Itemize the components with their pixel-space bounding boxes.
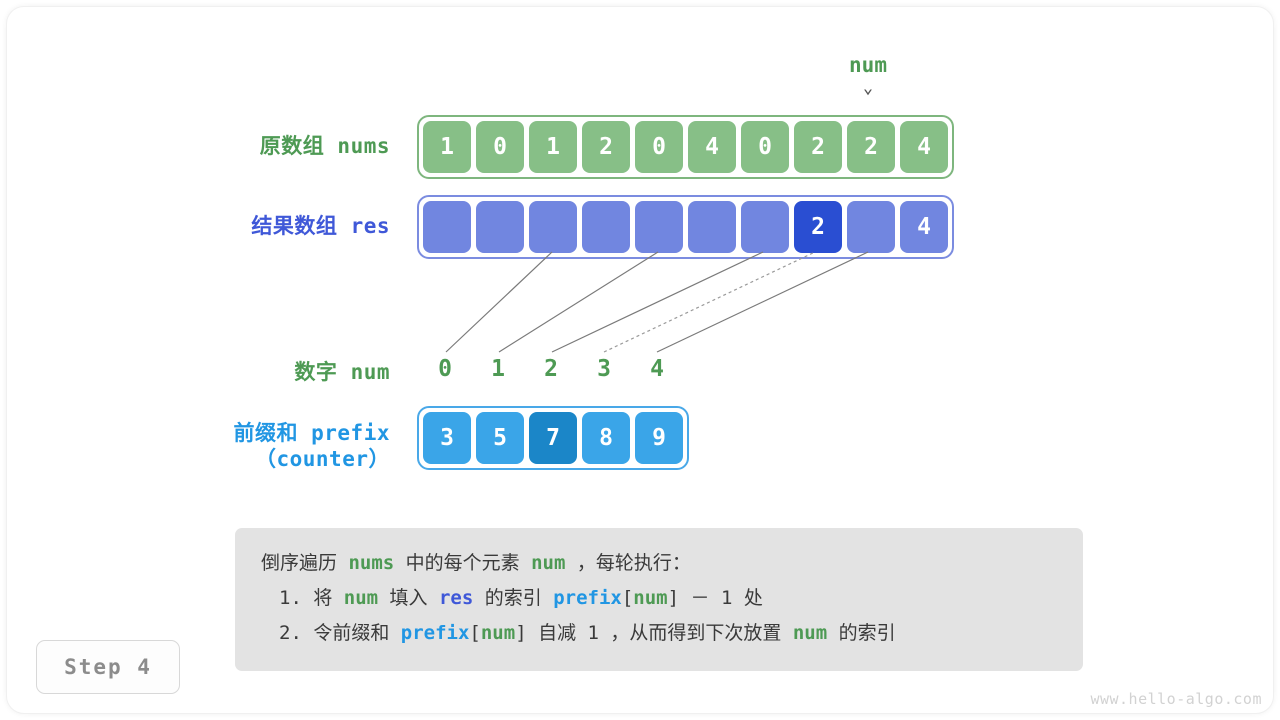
- digit-label: 2: [527, 356, 575, 382]
- caption-text: 倒序遍历: [261, 552, 348, 574]
- res-cell[interactable]: 4: [900, 201, 948, 253]
- digit-label: 1: [474, 356, 522, 382]
- caption-keyword-num: num: [793, 622, 827, 644]
- nums-cell[interactable]: 0: [476, 121, 524, 173]
- nums-cell[interactable]: 4: [688, 121, 736, 173]
- caption-text: ] 自减 1 ，从而得到下次放置: [515, 622, 793, 644]
- digit-labels: 0 1 2 3 4: [421, 356, 681, 382]
- caption-text: ，每轮执行：: [565, 552, 690, 574]
- caption-text: ] － 1 处: [668, 587, 763, 609]
- caption-box: 倒序遍历 nums 中的每个元素 num ，每轮执行： 1. 将 num 填入 …: [235, 528, 1083, 671]
- watermark: www.hello-algo.com: [1090, 690, 1262, 708]
- caption-line-1: 倒序遍历 nums 中的每个元素 num ，每轮执行：: [261, 546, 1059, 581]
- prefix-cell[interactable]: 8: [582, 412, 630, 464]
- caption-keyword-nums: nums: [348, 552, 394, 574]
- prefix-row-label-line1: 前缀和 prefix: [140, 420, 390, 446]
- caption-keyword-num: num: [344, 587, 378, 609]
- caption-text: 1. 将: [279, 587, 344, 609]
- chevron-down-icon: ⌄: [828, 79, 908, 98]
- caption-line-3: 2. 令前缀和 prefix[num] 自减 1 ，从而得到下次放置 num 的…: [261, 616, 1059, 651]
- caption-text: 填入: [378, 587, 439, 609]
- nums-cell[interactable]: 2: [794, 121, 842, 173]
- nums-cell[interactable]: 1: [423, 121, 471, 173]
- caption-keyword-prefix: prefix: [401, 622, 470, 644]
- nums-row-label: 原数组 nums: [150, 133, 390, 159]
- caption-line-2: 1. 将 num 填入 res 的索引 prefix[num] － 1 处: [261, 581, 1059, 616]
- caption-text: [: [622, 587, 633, 609]
- nums-cell[interactable]: 2: [582, 121, 630, 173]
- prefix-cell[interactable]: 3: [423, 412, 471, 464]
- res-cell[interactable]: [688, 201, 736, 253]
- res-cell[interactable]: [635, 201, 683, 253]
- res-row-label: 结果数组 res: [150, 213, 390, 239]
- digit-label: 4: [633, 356, 681, 382]
- caption-keyword-num: num: [633, 587, 667, 609]
- prefix-row-label: 前缀和 prefix （counter）: [140, 420, 390, 473]
- caption-keyword-res: res: [439, 587, 473, 609]
- prefix-row-label-line2: （counter）: [140, 446, 390, 472]
- prefix-cell-highlighted[interactable]: 7: [529, 412, 577, 464]
- diagram-canvas: num ⌄ 原数组 nums 1 0 1 2 0 4 0 2 2 4 结果数组 …: [0, 0, 1280, 720]
- nums-cell[interactable]: 0: [635, 121, 683, 173]
- res-cell[interactable]: [847, 201, 895, 253]
- nums-cell[interactable]: 0: [741, 121, 789, 173]
- res-cell[interactable]: [423, 201, 471, 253]
- caption-text: 2. 令前缀和: [279, 622, 401, 644]
- nums-cell[interactable]: 1: [529, 121, 577, 173]
- res-cell[interactable]: [529, 201, 577, 253]
- caption-keyword-prefix: prefix: [553, 587, 622, 609]
- prefix-cell[interactable]: 9: [635, 412, 683, 464]
- res-cell[interactable]: [741, 201, 789, 253]
- caption-text: [: [469, 622, 480, 644]
- digit-label: 0: [421, 356, 469, 382]
- caption-text: 的索引: [473, 587, 553, 609]
- prefix-array: 3 5 7 8 9: [417, 406, 689, 470]
- num-pointer-label: num: [849, 53, 887, 77]
- res-array: 2 4: [417, 195, 954, 259]
- prefix-cell[interactable]: 5: [476, 412, 524, 464]
- res-cell-highlighted[interactable]: 2: [794, 201, 842, 253]
- res-cell[interactable]: [476, 201, 524, 253]
- nums-cell[interactable]: 4: [900, 121, 948, 173]
- caption-keyword-num: num: [531, 552, 565, 574]
- nums-cell[interactable]: 2: [847, 121, 895, 173]
- caption-text: 中的每个元素: [394, 552, 531, 574]
- digits-row-label: 数字 num: [150, 359, 390, 385]
- num-pointer: num ⌄: [828, 54, 908, 98]
- digit-label: 3: [580, 356, 628, 382]
- nums-array: 1 0 1 2 0 4 0 2 2 4: [417, 115, 954, 179]
- res-cell[interactable]: [582, 201, 630, 253]
- step-badge: Step 4: [36, 640, 180, 694]
- caption-text: 的索引: [827, 622, 895, 644]
- caption-keyword-num: num: [481, 622, 515, 644]
